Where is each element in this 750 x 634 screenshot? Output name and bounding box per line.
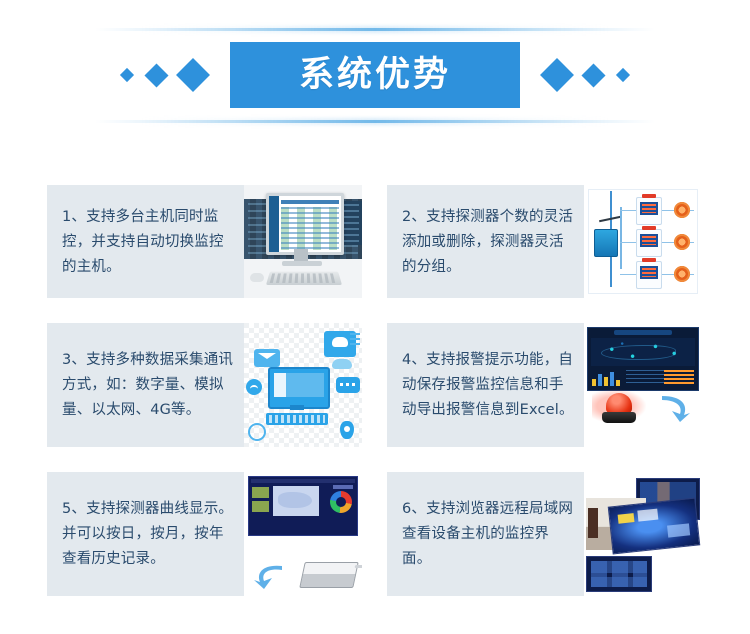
banner-row: 系统优势 — [0, 42, 750, 108]
diamond-icon — [581, 63, 605, 87]
alarm-beacon-dashboard-photo — [584, 323, 702, 447]
advantage-card-grid: 1、支持多台主机同时监控，并支持自动切换监控的主机。 2、支持探测器个数的灵活添… — [47, 185, 703, 596]
advantage-card-text: 5、支持探测器曲线显示。并可以按日，按月，按年查看历史记录。 — [47, 472, 244, 596]
detector-wiring-diagram — [584, 185, 702, 298]
curved-arrow-icon — [252, 562, 286, 590]
advantage-card: 4、支持报警提示功能，自动保存报警监控信息和手动导出报警信息到Excel。 — [387, 323, 702, 447]
remote-browser-screens-photo — [584, 472, 702, 596]
diamond-icon — [540, 58, 574, 92]
header-divider-top — [95, 28, 655, 31]
diamond-icon — [120, 68, 134, 82]
advantage-card-text: 3、支持多种数据采集通讯方式，如：数字量、模拟量、以太网、4G等。 — [47, 323, 244, 447]
diamond-icon — [144, 63, 168, 87]
left-diamond-group — [122, 63, 230, 87]
right-diamond-group — [520, 63, 628, 87]
page-title: 系统优势 — [299, 58, 451, 93]
data-acquisition-illustration — [244, 323, 362, 447]
advantage-card: 1、支持多台主机同时监控，并支持自动切换监控的主机。 — [47, 185, 362, 298]
advantage-card: 3、支持多种数据采集通讯方式，如：数字量、模拟量、以太网、4G等。 — [47, 323, 362, 447]
advantage-card: 6、支持浏览器远程局域网查看设备主机的监控界面。 — [387, 472, 702, 596]
page-header: 系统优势 — [0, 0, 750, 150]
section-title-banner: 系统优势 — [230, 42, 520, 108]
advantage-card-text: 4、支持报警提示功能，自动保存报警监控信息和手动导出报警信息到Excel。 — [387, 323, 584, 447]
multi-host-monitoring-photo — [244, 185, 362, 298]
advantage-card-text: 1、支持多台主机同时监控，并支持自动切换监控的主机。 — [47, 185, 244, 298]
advantage-card-text: 2、支持探测器个数的灵活添加或删除，探测器灵活的分组。 — [387, 185, 584, 298]
curved-arrow-icon — [658, 393, 694, 423]
advantage-card-text: 6、支持浏览器远程局域网查看设备主机的监控界面。 — [387, 472, 584, 596]
diamond-icon — [616, 68, 630, 82]
advantage-card: 2、支持探测器个数的灵活添加或删除，探测器灵活的分组。 — [387, 185, 702, 298]
advantage-card: 5、支持探测器曲线显示。并可以按日，按月，按年查看历史记录。 — [47, 472, 362, 596]
diamond-icon — [176, 58, 210, 92]
history-curve-storage-photo — [244, 472, 362, 596]
header-divider-bottom — [95, 120, 655, 123]
